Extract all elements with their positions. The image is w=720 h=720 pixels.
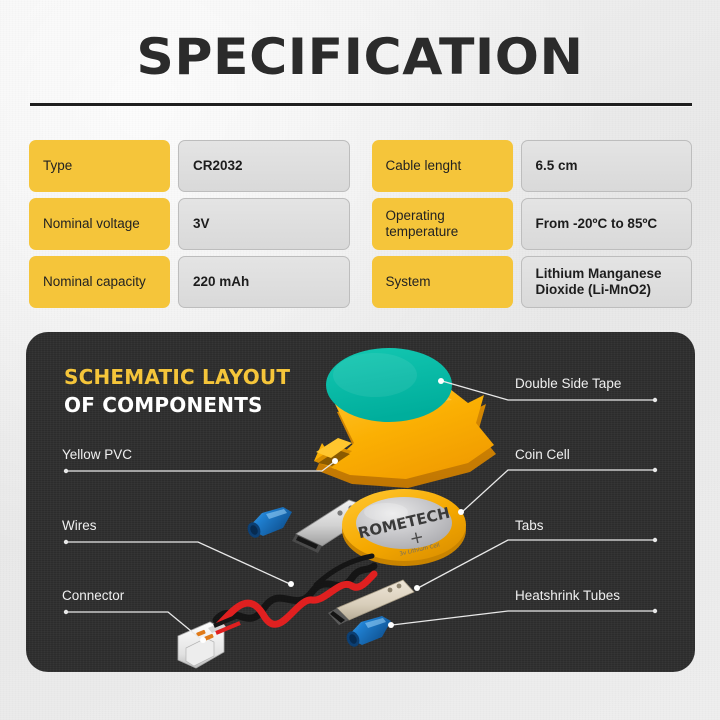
- schematic-heading-line2: OF COMPONENTS: [64, 391, 290, 419]
- spec-value-nominal-voltage: 3V: [178, 198, 350, 250]
- spec-key-type: Type: [29, 140, 170, 192]
- callout-heatshrink-tubes: Heatshrink Tubes: [515, 588, 620, 603]
- callout-tabs: Tabs: [515, 518, 544, 533]
- spec-row-cable-length: Cable lenght 6.5 cm: [372, 140, 693, 192]
- spec-row-nominal-capacity: Nominal capacity 220 mAh: [29, 256, 350, 308]
- callout-connector: Connector: [62, 588, 124, 603]
- specification-table: Type CR2032 Cable lenght 6.5 cm Nominal …: [29, 140, 692, 308]
- page-title: SPECIFICATION: [0, 28, 720, 86]
- schematic-heading-line1: SCHEMATIC LAYOUT: [64, 363, 290, 391]
- callout-wires: Wires: [62, 518, 97, 533]
- title-divider: [30, 103, 692, 106]
- spec-key-cable-length: Cable lenght: [372, 140, 513, 192]
- callout-yellow-pvc: Yellow PVC: [62, 447, 132, 462]
- spec-key-operating-temperature: Operating temperature: [372, 198, 513, 250]
- spec-key-system: System: [372, 256, 513, 308]
- spec-value-system: Lithium Manganese Dioxide (Li-MnO2): [521, 256, 693, 308]
- schematic-heading: SCHEMATIC LAYOUT OF COMPONENTS: [64, 363, 290, 420]
- callout-double-side-tape: Double Side Tape: [515, 376, 621, 391]
- spec-row-nominal-voltage: Nominal voltage 3V: [29, 198, 350, 250]
- spec-row-operating-temperature: Operating temperature From -20ºC to 85ºC: [372, 198, 693, 250]
- spec-row-system: System Lithium Manganese Dioxide (Li-MnO…: [372, 256, 693, 308]
- spec-key-nominal-capacity: Nominal capacity: [29, 256, 170, 308]
- spec-value-cable-length: 6.5 cm: [521, 140, 693, 192]
- spec-value-nominal-capacity: 220 mAh: [178, 256, 350, 308]
- spec-row-type: Type CR2032: [29, 140, 350, 192]
- spec-key-nominal-voltage: Nominal voltage: [29, 198, 170, 250]
- spec-value-operating-temperature: From -20ºC to 85ºC: [521, 198, 693, 250]
- spec-value-type: CR2032: [178, 140, 350, 192]
- callout-coin-cell: Coin Cell: [515, 447, 570, 462]
